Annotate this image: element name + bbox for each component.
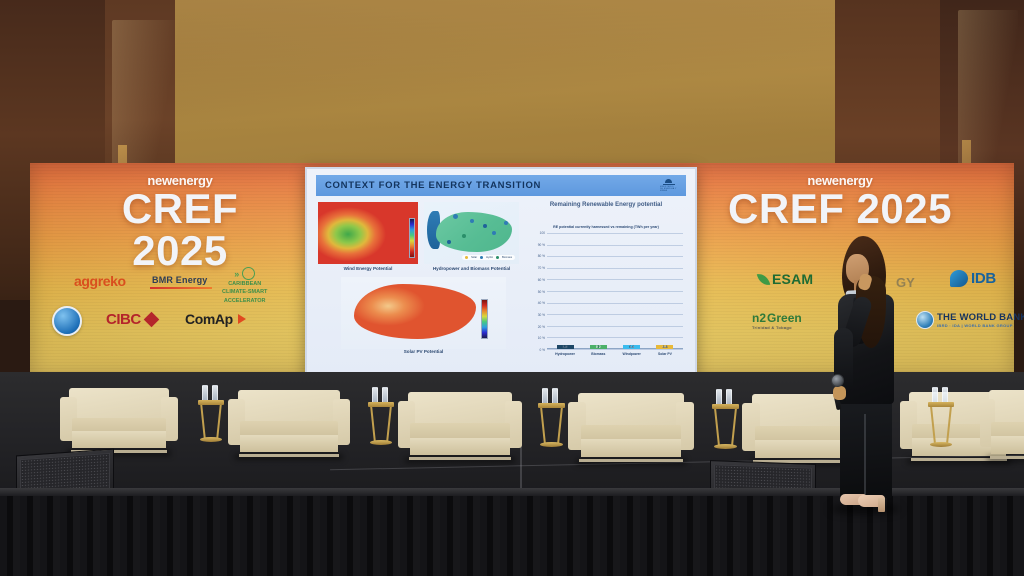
hydro-legend-item-hydro: Hydro: [486, 256, 493, 259]
caribbean-accelerator-icon: »: [234, 267, 255, 280]
bmr-energy-label: BMR Energy: [152, 275, 208, 285]
hydro-map-legend: Solar Hydro Biomass: [462, 255, 515, 260]
sponsor-logo-globe-badge: [52, 306, 82, 336]
ministry-logo-caption: MINISTERIO DE ENERGIA Y MINAS: [660, 186, 677, 192]
chart-gridline: 80 %: [547, 256, 683, 257]
caribbean-accelerator-line1: CARIBBEAN: [228, 281, 261, 288]
chart-title: Remaining Renewable Energy potential: [523, 201, 689, 209]
caribbean-accelerator-line3: ACCELERATOR: [224, 298, 266, 305]
wind-energy-map: [318, 202, 418, 264]
chart-x-tick-label: Windpower: [623, 352, 641, 356]
bmr-underline: [150, 287, 212, 289]
slide-title: CONTEXT FOR THE ENERGY TRANSITION: [325, 180, 541, 191]
hydropower-biomass-map: Solar Hydro Biomass: [424, 202, 519, 264]
side-table: [712, 404, 739, 449]
chart-y-tick-label: 60 %: [538, 278, 545, 282]
chart-bar-biomass: 20.2Biomass: [590, 345, 607, 349]
chart-bar-hydropower: 1.91.9Hydropower: [557, 345, 574, 349]
solar-map-landmass: [354, 284, 476, 339]
globe-icon: [52, 306, 82, 336]
brand-title-right: CREF 2025: [720, 188, 960, 230]
stage-armchair: [60, 388, 178, 450]
presenter-trouser-seam: [864, 414, 866, 496]
chart-plot-area: 10090 %80 %70 %60 %50 %40 %30 %20 %10 %0…: [547, 233, 683, 349]
sponsor-logo-comap: ComAp: [185, 311, 246, 327]
comap-play-icon: [238, 314, 246, 324]
chart-y-tick-label: 40 %: [538, 301, 545, 305]
esam-label: ESAM: [772, 271, 813, 287]
idb-swoosh-icon: [950, 270, 968, 287]
side-table: [198, 400, 224, 442]
ministry-logo-icon: MINISTERIO DE ENERGIA Y MINAS: [660, 179, 677, 193]
chart-gridline: 10 %: [547, 337, 683, 338]
chart-gridline: 70 %: [547, 268, 683, 269]
chart-bar-windpower: 6.01.1Windpower: [623, 345, 640, 349]
bar-label-remaining: 6.0: [623, 345, 640, 349]
slide-header-bar: CONTEXT FOR THE ENERGY TRANSITION MINIST…: [316, 175, 686, 196]
sponsor-logo-caribbean-accelerator: » CARIBBEAN CLIMATE-SMART ACCELERATOR: [222, 267, 267, 305]
side-table: [928, 402, 954, 447]
wind-map-colorbar: [409, 218, 415, 258]
chart-y-tick-label: 80 %: [538, 254, 545, 258]
brand-block-right: newenergy CREF 2025: [720, 173, 960, 230]
chart-y-tick-label: 30 %: [538, 313, 545, 317]
hydro-map-marker: [453, 214, 458, 219]
idb-label: IDB: [971, 270, 996, 287]
chart-x-tick-label: Solar PV: [658, 352, 672, 356]
caribbean-accelerator-line2: CLIMATE-SMART: [222, 289, 267, 296]
presenter-trousers: [840, 396, 892, 498]
chart-gridline: 30 %: [547, 314, 683, 315]
stage-armchair: [398, 392, 522, 457]
sponsor-logo-world-bank: THE WORLD BANK IBRD · IDA | WORLD BANK G…: [916, 311, 1024, 329]
presenter-shoe-heel: [878, 498, 885, 512]
chart-y-tick-label: 10 %: [538, 336, 545, 340]
chart-y-tick-label: 20 %: [538, 325, 545, 329]
bar-label-remaining: 1.9: [557, 345, 574, 349]
solar-map-caption: Solar PV Potential: [341, 349, 506, 354]
renewable-potential-chart: Remaining Renewable Energy potential RE …: [523, 199, 689, 369]
chart-y-tick-label: 100: [540, 231, 545, 235]
chart-gridline: 40 %: [547, 303, 683, 304]
hydro-map-marker: [492, 231, 496, 235]
presenter: [826, 236, 902, 518]
chart-x-tick-label: Biomass: [591, 352, 605, 356]
sponsor-logo-esam: ESAM: [758, 271, 813, 287]
bar-label-remaining: 2: [590, 345, 607, 349]
stage-armchair: [228, 390, 350, 454]
brand-sub-right: newenergy: [720, 173, 960, 188]
bar-label-remaining: 3.8: [656, 345, 673, 349]
cibc-label: CIBC: [106, 311, 141, 328]
chart-gridline: 0 %: [547, 349, 683, 350]
wind-map-caption: Wind Energy Potential: [318, 266, 418, 271]
hydro-legend-item-solar: Solar: [471, 256, 477, 259]
hydro-map-marker: [504, 221, 508, 225]
microphone-icon: [831, 374, 844, 387]
slide-canvas: CONTEXT FOR THE ENERGY TRANSITION MINIST…: [307, 169, 695, 377]
n2green-prefix: n2: [752, 311, 766, 325]
conference-stage-photo: newenergy CREF 2025 aggreko BMR Energy »…: [0, 0, 1024, 576]
sponsor-logo-bmr-energy: BMR Energy: [152, 275, 208, 285]
sponsor-logo-n2green: n2 Green Trinidad & Tobago: [752, 311, 802, 330]
side-table: [538, 403, 565, 447]
chart-gridline: 20 %: [547, 326, 683, 327]
stage-armchair: [568, 393, 694, 459]
world-bank-globe-icon: [916, 311, 934, 329]
n2green-sub: Trinidad & Tobago: [752, 325, 792, 330]
solar-pv-map: [341, 277, 506, 349]
hydro-map-landmass: [436, 212, 512, 252]
n2green-label: Green: [767, 311, 802, 325]
sponsor-logo-aggreko: aggreko: [74, 273, 126, 289]
comap-label: ComAp: [185, 311, 233, 327]
chart-gridline: 60 %: [547, 279, 683, 280]
world-bank-label: THE WORLD BANK: [937, 312, 1024, 323]
world-bank-sub: IBRD · IDA | WORLD BANK GROUP: [937, 323, 1013, 328]
cibc-diamond-icon: [143, 312, 159, 328]
sponsor-logo-cibc: CIBC: [106, 311, 157, 328]
brand-title-left: CREF 2025: [70, 188, 290, 272]
chart-subtitle: RE potential currently harnessed vs rema…: [523, 225, 689, 229]
chart-gridline: 90 %: [547, 245, 683, 246]
hydro-legend-item-biomass: Biomass: [502, 256, 512, 259]
solar-map-colorbar: [481, 299, 488, 339]
hydro-map-caption: Hydropower and Biomass Potential: [424, 266, 519, 271]
leaf-icon: [757, 271, 770, 286]
chart-gridline: 50 %: [547, 291, 683, 292]
presentation-screen: CONTEXT FOR THE ENERGY TRANSITION MINIST…: [305, 167, 697, 379]
brand-block-left: newenergy CREF 2025: [70, 173, 290, 272]
chart-x-tick-label: Hydropower: [555, 352, 575, 356]
chart-y-tick-label: 90 %: [538, 243, 545, 247]
side-table: [368, 402, 394, 445]
presenter-hand-holding-mic: [833, 386, 846, 400]
sponsor-logo-idb: IDB: [950, 270, 996, 287]
stage-armchair: [980, 390, 1024, 456]
brand-sub-left: newenergy: [70, 173, 290, 188]
chart-y-tick-label: 50 %: [538, 290, 545, 294]
chart-y-tick-label: 0 %: [540, 348, 546, 352]
chart-y-tick-label: 70 %: [538, 266, 545, 270]
chart-bar-solar-pv: 3.80.6Solar PV: [656, 345, 673, 349]
wall-sheen: [175, 0, 835, 130]
chart-gridline: 100: [547, 233, 683, 234]
